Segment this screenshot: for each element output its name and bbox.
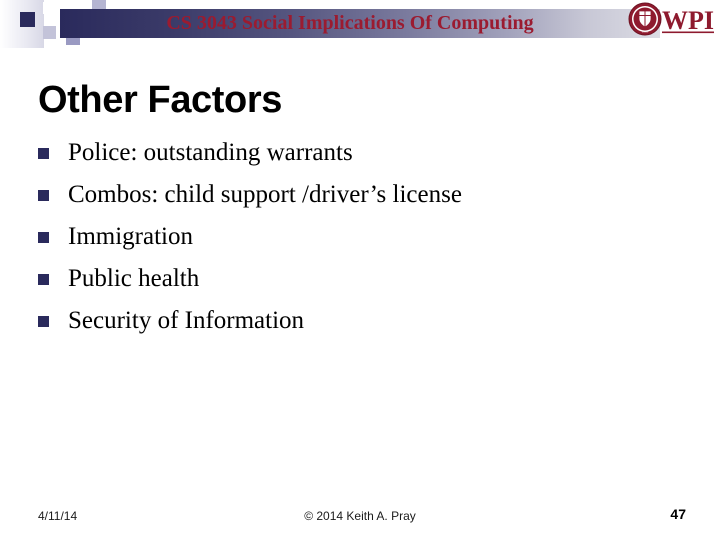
- course-title: CS 3043 Social Implications Of Computing: [60, 9, 640, 38]
- wpi-wordmark: WPI: [662, 6, 714, 35]
- bullet-square-icon: [38, 232, 49, 243]
- list-item-label: Immigration: [68, 220, 193, 254]
- bullet-list: Police: outstanding warrants Combos: chi…: [38, 136, 678, 346]
- list-item: Immigration: [38, 220, 678, 262]
- bullet-square-icon: [38, 274, 49, 285]
- list-item: Combos: child support /driver’s license: [38, 178, 678, 220]
- footer-copyright: © 2014 Keith A. Pray: [0, 509, 720, 523]
- list-item: Police: outstanding warrants: [38, 136, 678, 178]
- list-item-label: Security of Information: [68, 304, 304, 338]
- list-item: Security of Information: [38, 304, 678, 346]
- header-decor-square-1: [20, 12, 35, 27]
- slide: CS 3043 Social Implications Of Computing…: [0, 0, 720, 540]
- header-decor-square-6: [43, 26, 56, 39]
- svg-text:1865: 1865: [642, 29, 649, 33]
- page-title: Other Factors: [38, 78, 282, 122]
- slide-number: 47: [670, 506, 686, 522]
- list-item: Public health: [38, 262, 678, 304]
- list-item-label: Public health: [68, 262, 199, 296]
- bullet-square-icon: [38, 316, 49, 327]
- wpi-logo: 1865 WPI: [628, 2, 716, 38]
- wpi-seal-icon: 1865: [629, 3, 661, 35]
- bullet-square-icon: [38, 190, 49, 201]
- bullet-square-icon: [38, 148, 49, 159]
- header-decor-square-7: [43, 2, 55, 14]
- list-item-label: Combos: child support /driver’s license: [68, 178, 462, 212]
- slide-header: CS 3043 Social Implications Of Computing…: [0, 0, 720, 48]
- list-item-label: Police: outstanding warrants: [68, 136, 353, 170]
